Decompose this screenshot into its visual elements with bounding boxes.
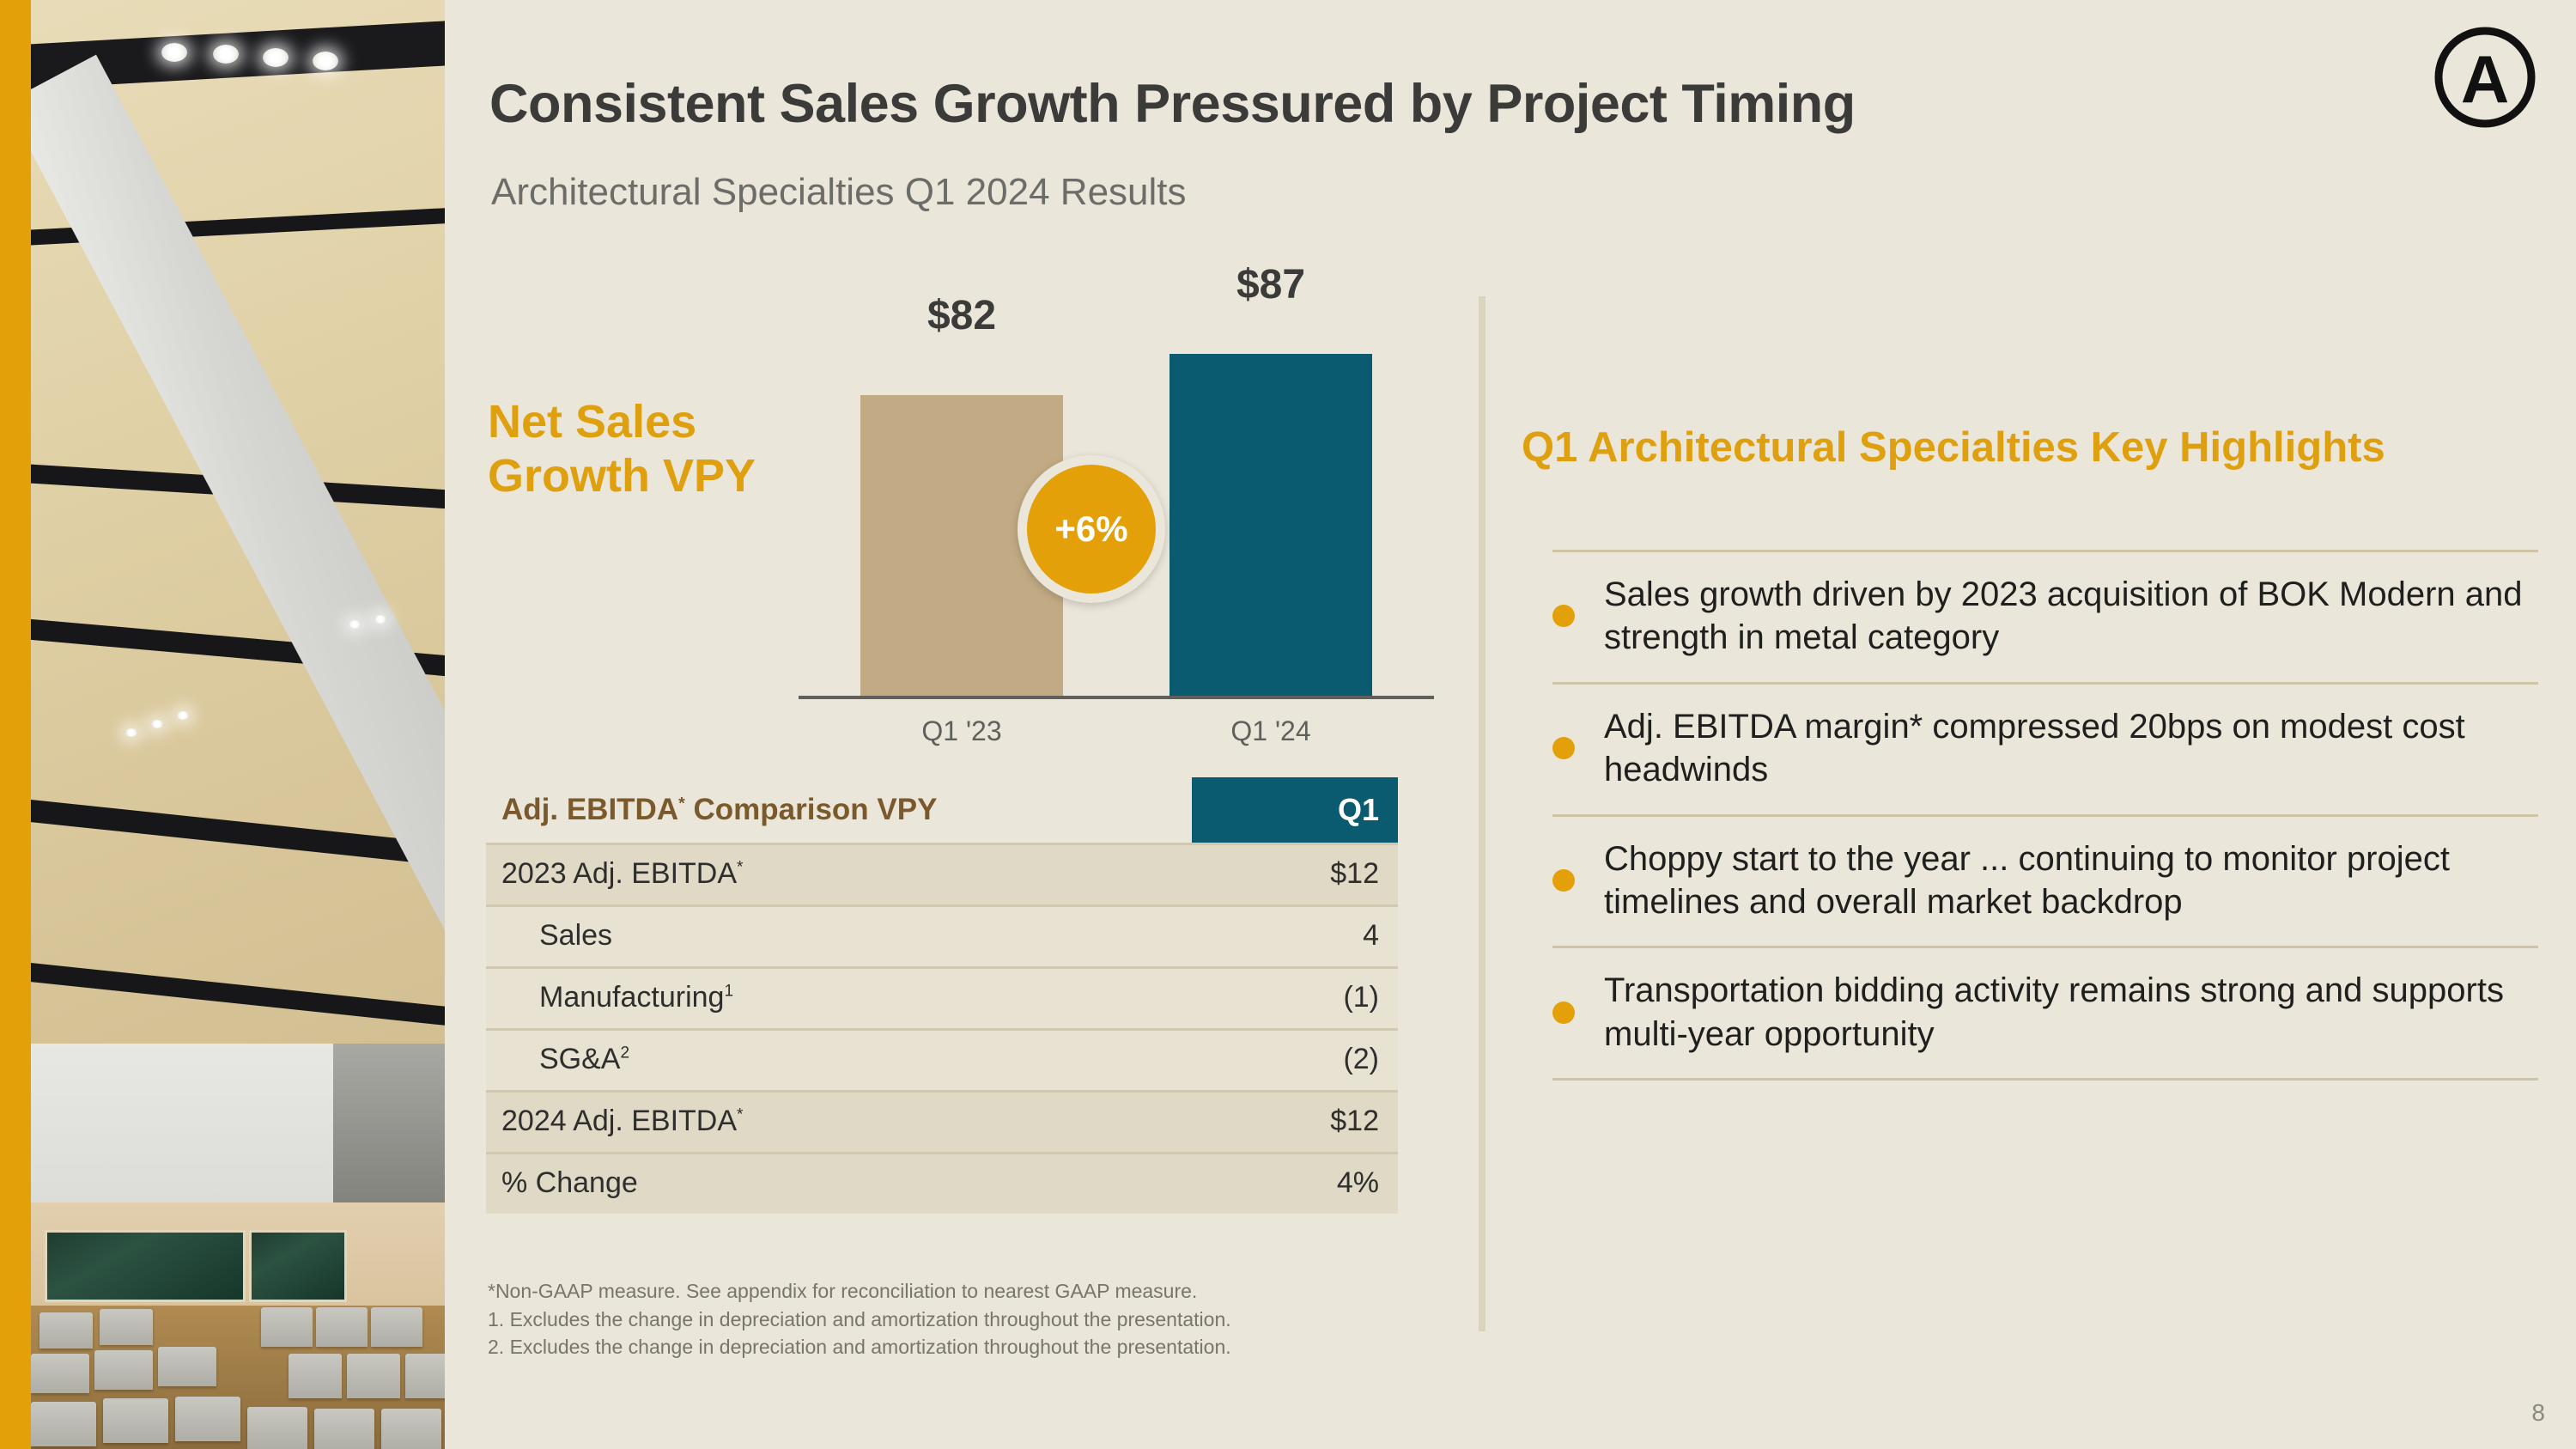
page-subtitle: Architectural Specialties Q1 2024 Result… bbox=[491, 172, 2294, 213]
left-photo-strip bbox=[0, 0, 445, 1449]
list-item: Transportation bidding activity remains … bbox=[1552, 946, 2538, 1081]
table-row-label: Sales bbox=[486, 919, 1173, 953]
chart-label-line-2: Growth VPY bbox=[488, 449, 848, 503]
table-row: % Change 4% bbox=[486, 1152, 1398, 1214]
chart-side-label: Net Sales Growth VPY bbox=[488, 395, 848, 502]
table-header-label: Adj. EBITDA* Comparison VPY bbox=[486, 793, 1192, 827]
footnote-1: 1. Excludes the change in depreciation a… bbox=[488, 1306, 1518, 1334]
gold-accent-bar bbox=[0, 0, 31, 1449]
bar-category-q1-23: Q1 '23 bbox=[833, 715, 1091, 747]
growth-badge: +6% bbox=[1018, 455, 1165, 603]
ebitda-comparison-table: Adj. EBITDA* Comparison VPY Q1 2023 Adj.… bbox=[486, 777, 1398, 1214]
bar-value-label: $82 bbox=[833, 292, 1091, 339]
bullet-dot-icon bbox=[1552, 737, 1575, 759]
bar-value-label: $87 bbox=[1142, 261, 1400, 308]
table-header-note: * bbox=[678, 794, 685, 813]
ceiling-bulb bbox=[263, 48, 289, 67]
table-row-value: $12 bbox=[1173, 1105, 1398, 1138]
chart-axis-line bbox=[799, 696, 1434, 699]
table-header-row: Adj. EBITDA* Comparison VPY Q1 bbox=[486, 777, 1398, 843]
architectural-interior-photo bbox=[31, 0, 445, 1449]
bullet-dot-icon bbox=[1552, 1002, 1575, 1024]
table-row: Manufacturing1 (1) bbox=[486, 966, 1398, 1028]
footnotes: *Non-GAAP measure. See appendix for reco… bbox=[488, 1277, 1518, 1361]
table-row-label: Manufacturing1 bbox=[486, 981, 1173, 1014]
table-row-value: 4% bbox=[1173, 1166, 1398, 1200]
ceiling-bulb bbox=[349, 620, 361, 629]
concrete-column bbox=[333, 1044, 445, 1224]
list-item-text: Sales growth driven by 2023 acquisition … bbox=[1604, 573, 2538, 660]
ceiling-bulb bbox=[125, 728, 137, 737]
bar-q1-24 bbox=[1170, 354, 1372, 697]
bar-group-q1-24: $87 Q1 '24 bbox=[1142, 292, 1400, 747]
footnote-asterisk: *Non-GAAP measure. See appendix for reco… bbox=[488, 1277, 1518, 1306]
ceiling-bulb bbox=[151, 720, 163, 728]
highlights-title: Q1 Architectural Specialties Key Highlig… bbox=[1522, 425, 2535, 472]
table-header-period: Q1 bbox=[1192, 777, 1398, 843]
list-item: Sales growth driven by 2023 acquisition … bbox=[1552, 550, 2538, 682]
list-item-text: Transportation bidding activity remains … bbox=[1604, 969, 2538, 1056]
bullet-dot-icon bbox=[1552, 869, 1575, 892]
ceiling-bulb bbox=[213, 45, 239, 64]
table-header-label-tail: Comparison VPY bbox=[685, 793, 938, 826]
projection-window bbox=[45, 1230, 246, 1302]
page-title: Consistent Sales Growth Pressured by Pro… bbox=[489, 76, 2293, 132]
table-row-label: 2023 Adj. EBITDA* bbox=[486, 857, 1173, 891]
ceiling-bulb bbox=[313, 52, 338, 70]
auditorium-seating bbox=[31, 1306, 445, 1449]
table-row: Sales 4 bbox=[486, 904, 1398, 966]
page-number: 8 bbox=[2531, 1399, 2545, 1427]
table-row-value: 4 bbox=[1173, 919, 1398, 953]
circle-a-logo: A bbox=[2432, 24, 2538, 131]
list-item-text: Adj. EBITDA margin* compressed 20bps on … bbox=[1604, 705, 2538, 792]
table-row: SG&A2 (2) bbox=[486, 1028, 1398, 1090]
table-row-value: (2) bbox=[1173, 1043, 1398, 1076]
table-row-label: SG&A2 bbox=[486, 1043, 1173, 1076]
table-row-value: (1) bbox=[1173, 981, 1398, 1014]
table-row-label: 2024 Adj. EBITDA* bbox=[486, 1105, 1173, 1138]
column-divider bbox=[1479, 296, 1485, 1331]
table-row-label: % Change bbox=[486, 1166, 1173, 1200]
list-item: Adj. EBITDA margin* compressed 20bps on … bbox=[1552, 682, 2538, 814]
footnote-2: 2. Excludes the change in depreciation a… bbox=[488, 1333, 1518, 1361]
net-sales-bar-chart: $82 Q1 '23 $87 Q1 '24 +6% bbox=[799, 292, 1434, 747]
ceiling-bulb bbox=[161, 43, 187, 62]
list-item: Choppy start to the year ... continuing … bbox=[1552, 814, 2538, 947]
table-row-value: $12 bbox=[1173, 857, 1398, 891]
bullet-dot-icon bbox=[1552, 605, 1575, 627]
ceiling-bulb bbox=[374, 615, 386, 624]
slide-root: Consistent Sales Growth Pressured by Pro… bbox=[0, 0, 2576, 1449]
projection-window bbox=[249, 1230, 347, 1302]
table-row: 2024 Adj. EBITDA* $12 bbox=[486, 1090, 1398, 1152]
ceiling-bulb bbox=[177, 711, 189, 720]
logo-letter: A bbox=[2461, 41, 2509, 117]
chart-label-line-1: Net Sales bbox=[488, 395, 848, 449]
highlights-list: Sales growth driven by 2023 acquisition … bbox=[1552, 550, 2538, 1081]
bar-category-q1-24: Q1 '24 bbox=[1142, 715, 1400, 747]
table-header-label-text: Adj. EBITDA bbox=[501, 793, 678, 826]
list-item-text: Choppy start to the year ... continuing … bbox=[1604, 837, 2538, 924]
table-row: 2023 Adj. EBITDA* $12 bbox=[486, 843, 1398, 904]
